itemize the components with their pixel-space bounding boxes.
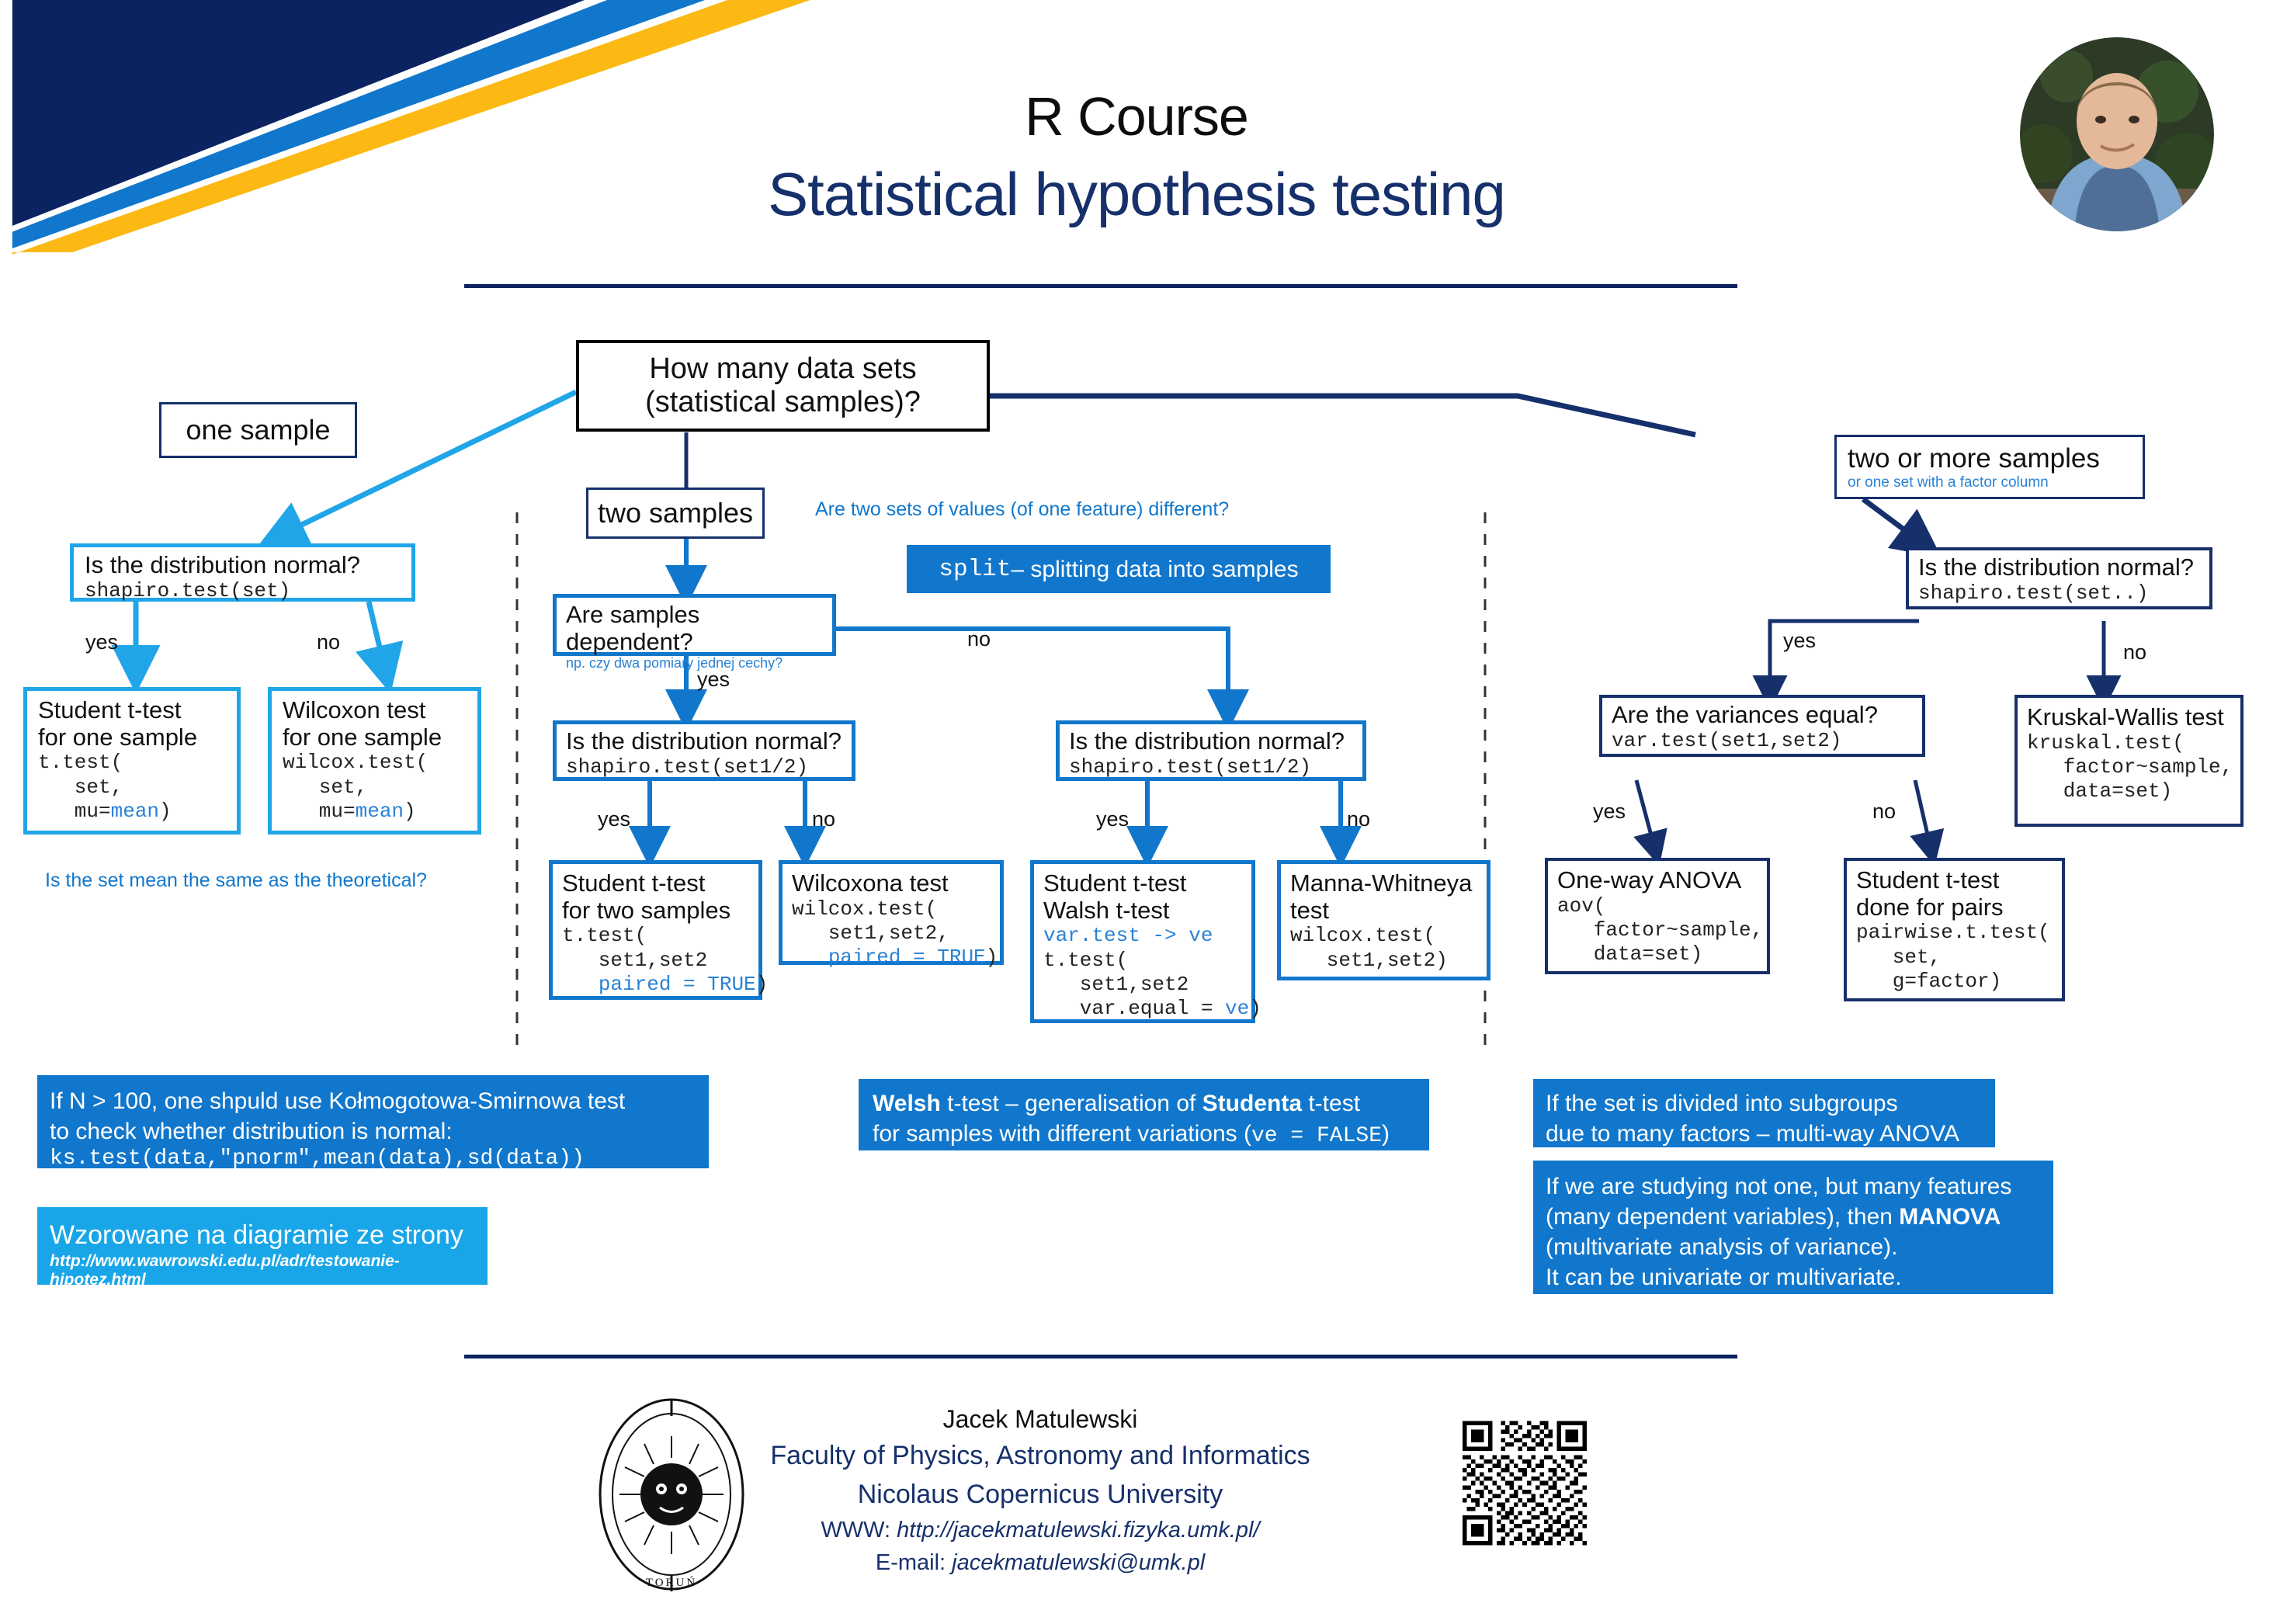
node-pairwise-t-test[interactable]: Student t-test done for pairs pairwise.t… — [1844, 858, 2065, 1001]
left-column-caption: Is the set mean the same as the theoreti… — [45, 869, 511, 892]
left-ttest-code-post: ) — [159, 800, 172, 823]
variances-code: var.test(set1,set2) — [1612, 729, 1913, 753]
footer-email-label: E-mail: — [876, 1550, 952, 1575]
walsh-title: Student t-test Walsh t-test — [1043, 870, 1242, 924]
node-left-wilcoxon-test[interactable]: Wilcoxon test for one sample wilcox.test… — [268, 687, 481, 835]
node-mann-whitney-test[interactable]: Manna-Whitneya test wilcox.test( set1,se… — [1277, 860, 1490, 980]
edge-label-mid-right-yes: yes — [1096, 807, 1129, 831]
node-two-or-more-label: two or more samples — [1848, 443, 2132, 474]
welsh-bold2: Studenta — [1202, 1091, 1302, 1116]
node-middle-left-normality-question[interactable]: Is the distribution normal? shapiro.test… — [553, 720, 855, 781]
ttest-two-code-post: ) — [756, 973, 769, 996]
university-seal: TORUŃ — [590, 1390, 753, 1599]
dependent-title: Are samples dependent? — [566, 602, 823, 655]
split-banner: split – splitting data into samples — [907, 545, 1331, 593]
node-walsh-t-test[interactable]: Student t-test Walsh t-test var.test -> … — [1030, 860, 1255, 1023]
edge-label-var-no: no — [1872, 800, 1896, 824]
wilcoxona-title: Wilcoxona test — [792, 870, 991, 897]
mid-left-normality-title: Is the distribution normal? — [566, 728, 842, 755]
left-ttest-code-hl: mean — [111, 800, 159, 823]
walsh-code-post: ) — [1249, 997, 1261, 1020]
edge-label-left-no: no — [317, 630, 340, 654]
node-samples-dependent-question[interactable]: Are samples dependent? np. czy dwa pomia… — [553, 594, 836, 656]
manova-line2b: MANOVA — [1899, 1204, 2001, 1230]
footer-www-label: WWW: — [821, 1518, 897, 1542]
manova-line4: It can be univariate or multivariate. — [1546, 1262, 2041, 1293]
node-kruskal-wallis-test[interactable]: Kruskal-Wallis test kruskal.test( factor… — [2014, 695, 2244, 827]
welsh-text2: t-test — [1302, 1091, 1360, 1116]
variances-title: Are the variances equal? — [1612, 702, 1913, 729]
footer-university: Nicolaus Copernicus University — [745, 1476, 1335, 1514]
edge-label-right-no: no — [2123, 640, 2146, 665]
ttest-two-code-hl: paired = TRUE — [599, 973, 756, 996]
qr-code — [1463, 1415, 1587, 1551]
node-variances-equal-question[interactable]: Are the variances equal? var.test(set1,s… — [1599, 695, 1925, 757]
ttest-two-title: Student t-test for two samples — [562, 870, 749, 924]
edge-label-mid-right-no: no — [1347, 807, 1370, 831]
node-two-or-more-samples[interactable]: two or more samples or one set with a fa… — [1834, 435, 2145, 499]
manova-line1: If we are studying not one, but many fea… — [1546, 1171, 2041, 1202]
welsh-bold1: Welsh — [873, 1091, 941, 1116]
node-one-way-anova[interactable]: One-way ANOVA aov( factor~sample, data=s… — [1545, 858, 1770, 974]
edge-label-right-yes: yes — [1783, 629, 1816, 653]
right-normality-code: shapiro.test(set..) — [1918, 581, 2200, 606]
pairwise-code: pairwise.t.test( set, g=factor) — [1856, 921, 2053, 994]
welsh-line2-text2: ) — [1382, 1121, 1390, 1147]
mid-right-normality-code: shapiro.test(set1/2) — [1069, 755, 1353, 779]
node-one-sample-label: one sample — [186, 414, 330, 446]
edge-label-left-yes: yes — [85, 630, 118, 654]
banner-kolmogorov: If N > 100, one shpuld use Kołmogotowa-S… — [37, 1075, 709, 1168]
left-wilcoxon-code-post: ) — [404, 800, 416, 823]
kolmogorov-code: ks.test(data,"pnorm",mean(data),sd(data)… — [50, 1147, 696, 1171]
left-wilcoxon-title: Wilcoxon test for one sample — [283, 697, 467, 751]
footer-email[interactable]: jacekmatulewski@umk.pl — [952, 1550, 1205, 1575]
multiway-line1: If the set is divided into subgroups — [1546, 1088, 1983, 1119]
footer-www[interactable]: http://jacekmatulewski.fizyka.umk.pl/ — [897, 1518, 1259, 1542]
kruskal-code: kruskal.test( factor~sample, data=set) — [2027, 731, 2231, 804]
left-wilcoxon-code-hl: mean — [356, 800, 404, 823]
walsh-code-hl2: ve — [1225, 997, 1249, 1020]
node-left-normality-question[interactable]: Is the distribution normal? shapiro.test… — [70, 543, 415, 602]
banner-welsh: Welsh t-test – generalisation of Student… — [859, 1079, 1429, 1150]
dependent-sub: np. czy dwa pomiary jednej cechy? — [566, 655, 823, 672]
node-root-question[interactable]: How many data sets (statistical samples)… — [576, 340, 990, 432]
edge-label-var-yes: yes — [1593, 800, 1626, 824]
source-url[interactable]: http://www.wawrowski.edu.pl/adr/testowan… — [50, 1252, 475, 1289]
kruskal-title: Kruskal-Wallis test — [2027, 704, 2231, 731]
anova-title: One-way ANOVA — [1557, 867, 1758, 894]
edge-label-dependent-no: no — [967, 627, 991, 651]
welsh-line2-code: ve = FALSE — [1251, 1124, 1382, 1148]
node-two-samples-label: two samples — [598, 497, 753, 529]
kolmogorov-line1: If N > 100, one shpuld use Kołmogotowa-S… — [50, 1086, 696, 1116]
middle-question-note: Are two sets of values (of one feature) … — [815, 498, 1359, 521]
node-student-t-test-two-samples[interactable]: Student t-test for two samples t.test( s… — [549, 860, 762, 1000]
multiway-line2: due to many factors – multi-way ANOVA — [1546, 1119, 1983, 1149]
edge-label-mid-left-yes: yes — [598, 807, 630, 831]
footer-faculty: Faculty of Physics, Astronomy and Inform… — [745, 1437, 1335, 1475]
node-two-or-more-sublabel: or one set with a factor column — [1848, 474, 2132, 492]
edge-label-mid-left-no: no — [812, 807, 835, 831]
anova-code: aov( factor~sample, data=set) — [1557, 894, 1758, 967]
welsh-text1: t-test – generalisation of — [941, 1091, 1202, 1116]
walsh-code-hl1: var.test -> ve — [1043, 924, 1213, 947]
wilcoxona-code-post: ) — [986, 946, 998, 969]
node-middle-left-normality-question-2[interactable]: Is the distribution normal? shapiro.test… — [1056, 720, 1366, 781]
node-two-samples[interactable]: two samples — [586, 488, 765, 539]
left-ttest-title: Student t-test for one sample — [38, 697, 226, 751]
mann-whitney-code: wilcox.test( set1,set2) — [1290, 924, 1477, 972]
welsh-line2-text1: for samples with different variations ( — [873, 1121, 1251, 1147]
kolmogorov-line2: to check whether distribution is normal: — [50, 1116, 696, 1147]
source-line1: Wzorowane na diagramie ze strony — [50, 1218, 475, 1252]
banner-source[interactable]: Wzorowane na diagramie ze strony http://… — [37, 1207, 488, 1285]
banner-manova: If we are studying not one, but many fea… — [1533, 1161, 2053, 1294]
left-normality-title: Is the distribution normal? — [85, 552, 401, 579]
node-right-normality-question[interactable]: Is the distribution normal? shapiro.test… — [1906, 547, 2212, 609]
split-banner-text: – splitting data into samples — [1011, 554, 1298, 585]
footer-name: Jacek Matulewski — [745, 1401, 1335, 1437]
node-one-sample[interactable]: one sample — [159, 402, 357, 458]
wilcoxona-code-hl: paired = TRUE — [828, 946, 986, 969]
manova-line3: (multivariate analysis of variance). — [1546, 1232, 2041, 1262]
pairwise-title: Student t-test done for pairs — [1856, 867, 2053, 921]
edge-label-dependent-yes: yes — [697, 668, 730, 692]
split-banner-code: split — [939, 556, 1011, 583]
node-wilcoxona-test[interactable]: Wilcoxona test wilcox.test( set1,set2, p… — [779, 860, 1004, 965]
mid-left-normality-code: shapiro.test(set1/2) — [566, 755, 842, 779]
svg-text:TORUŃ: TORUŃ — [646, 1576, 697, 1589]
mid-right-normality-title: Is the distribution normal? — [1069, 728, 1353, 755]
node-left-student-t-test[interactable]: Student t-test for one sample t.test( se… — [23, 687, 241, 835]
right-normality-title: Is the distribution normal? — [1918, 554, 2200, 581]
left-normality-code: shapiro.test(set) — [85, 579, 401, 603]
banner-multiway-anova: If the set is divided into subgroups due… — [1533, 1079, 1995, 1147]
manova-line2a: (many dependent variables), then — [1546, 1204, 1899, 1230]
node-root-label: How many data sets (statistical samples)… — [645, 352, 921, 418]
footer-info: Jacek Matulewski Faculty of Physics, Ast… — [745, 1401, 1335, 1579]
walsh-code-mid: t.test( set1,set2 var.equal = — [1043, 949, 1225, 1020]
mann-whitney-title: Manna-Whitneya test — [1290, 870, 1477, 924]
